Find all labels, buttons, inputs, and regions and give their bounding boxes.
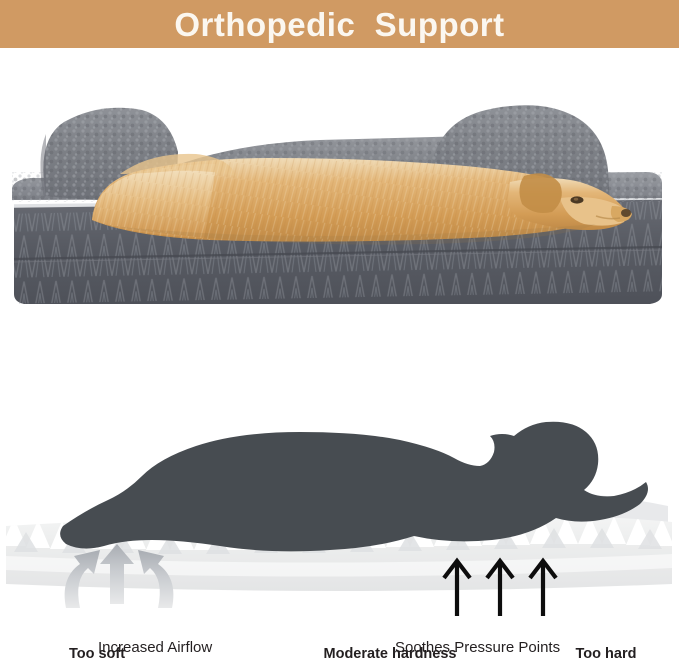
infographic-page: Orthopedic Support [0,0,679,660]
product-photo [0,48,679,320]
dog-bed-illustration [0,48,679,320]
caption-increased-airflow: Increased Airflow [98,639,212,656]
page-title: Orthopedic Support [174,8,504,41]
foam-cross-section-diagram [0,418,679,618]
caption-soothes-pressure-points: Soothes Pressure Points [395,639,560,656]
hardness-scale: Too soft 1 Lack of support Moderate hard… [0,320,679,420]
header-band: Orthopedic Support [0,0,679,48]
foam-diagram-illustration [0,418,679,618]
